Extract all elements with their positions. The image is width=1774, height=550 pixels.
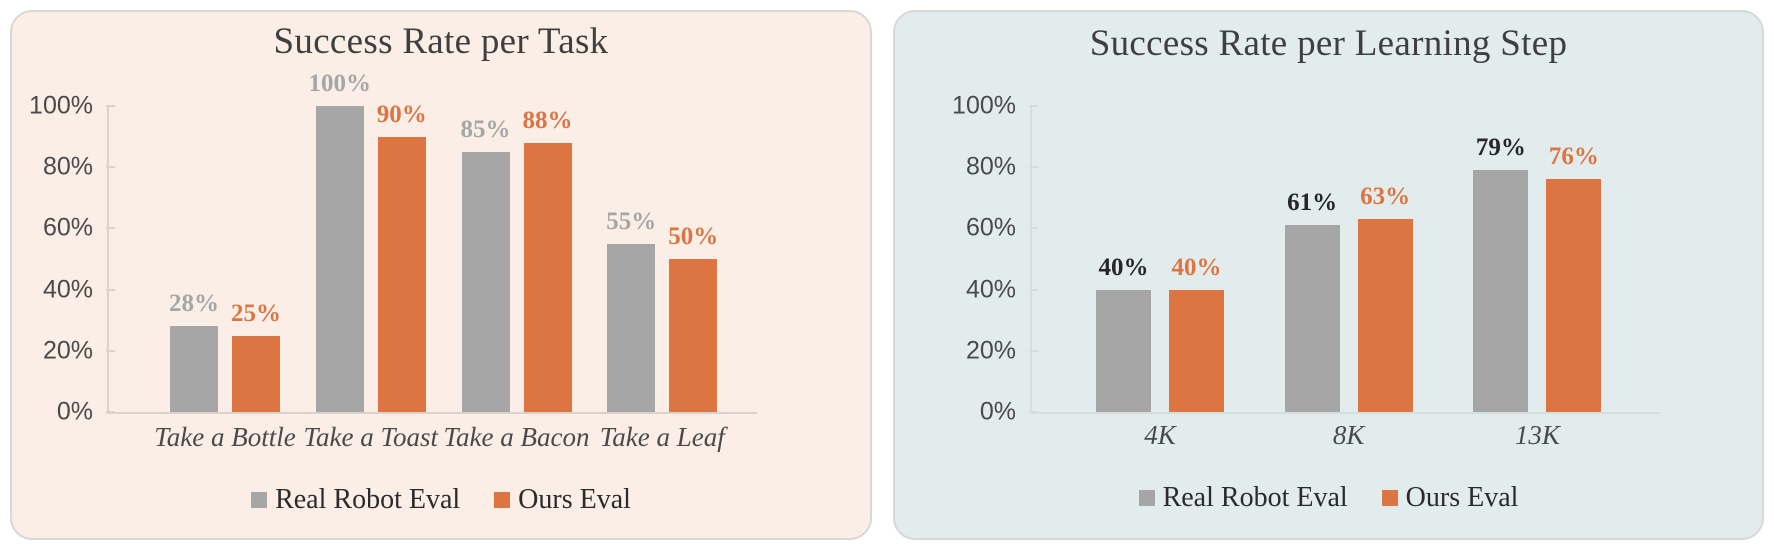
bar-value-label: 85% — [461, 116, 511, 144]
y-axis-tick — [106, 227, 115, 229]
bar-ours-eval — [1169, 290, 1224, 412]
y-axis-tick-label: 40% — [966, 275, 1016, 304]
legend-item-ours-eval[interactable]: Ours Eval — [494, 484, 631, 516]
bar-value-label: 63% — [1360, 183, 1410, 211]
bar-ours-eval — [669, 259, 717, 412]
x-axis-category-label: Take a Bacon — [444, 422, 590, 453]
chart-legend: Real Robot EvalOurs Eval — [12, 484, 870, 516]
bar-value-label: 100% — [309, 70, 372, 98]
y-axis-tick — [106, 166, 115, 168]
bar-real-robot-eval — [170, 326, 218, 412]
y-axis-tick-label: 100% — [952, 92, 1016, 121]
plot-area-left: 0%20%40%60%80%100%28%25%100%90%85%88%55%… — [107, 106, 757, 412]
y-axis-tick-label: 100% — [29, 92, 93, 121]
panel-success-rate-per-learning-step: Success Rate per Learning Step 0%20%40%6… — [893, 10, 1764, 540]
y-axis-tick-label: 80% — [43, 153, 93, 182]
x-axis-category-label: Take a Toast — [303, 422, 438, 453]
y-axis-tick-label: 0% — [57, 398, 93, 427]
legend-item-ours-eval[interactable]: Ours Eval — [1382, 482, 1519, 514]
y-axis-tick-label: 20% — [43, 336, 93, 365]
bar-ours-eval — [1358, 219, 1413, 412]
y-axis-tick-label: 80% — [966, 153, 1016, 182]
bar-real-robot-eval — [462, 152, 510, 412]
bar-value-label: 79% — [1476, 134, 1526, 162]
legend-item-real-robot-eval[interactable]: Real Robot Eval — [251, 484, 460, 516]
y-axis-tick — [1029, 350, 1038, 352]
y-axis-tick — [1029, 289, 1038, 291]
legend-swatch — [1382, 490, 1398, 506]
legend-swatch — [494, 492, 510, 508]
legend-item-real-robot-eval[interactable]: Real Robot Eval — [1139, 482, 1348, 514]
bar-value-label: 25% — [231, 300, 281, 328]
bar-real-robot-eval — [607, 244, 655, 412]
y-axis-tick-label: 40% — [43, 275, 93, 304]
y-axis-tick — [106, 411, 115, 413]
x-axis-baseline — [1030, 412, 1660, 414]
bar-ours-eval — [524, 143, 572, 412]
y-axis-tick — [1029, 227, 1038, 229]
bar-value-label: 40% — [1099, 254, 1149, 282]
y-axis-tick-label: 0% — [980, 398, 1016, 427]
bar-real-robot-eval — [1473, 170, 1528, 412]
x-axis-category-label: 8K — [1333, 420, 1365, 451]
chart-figure: Success Rate per Task 0%20%40%60%80%100%… — [0, 0, 1774, 550]
plot-area-right: 0%20%40%60%80%100%40%40%61%63%79%76% — [1030, 106, 1660, 412]
bar-real-robot-eval — [316, 106, 364, 412]
x-axis-category-label: Take a Leaf — [600, 422, 725, 453]
y-axis-tick — [1029, 166, 1038, 168]
legend-swatch — [251, 492, 267, 508]
panel-success-rate-per-task: Success Rate per Task 0%20%40%60%80%100%… — [10, 10, 872, 540]
bar-value-label: 55% — [606, 208, 656, 236]
y-axis-tick-label: 60% — [966, 214, 1016, 243]
y-axis-tick-label: 20% — [966, 336, 1016, 365]
y-axis-tick — [1029, 105, 1038, 107]
legend-label: Real Robot Eval — [1163, 482, 1348, 514]
bar-value-label: 90% — [377, 101, 427, 129]
x-axis-category-label: Take a Bottle — [154, 422, 296, 453]
bar-real-robot-eval — [1285, 225, 1340, 412]
bar-real-robot-eval — [1096, 290, 1151, 412]
bar-value-label: 88% — [523, 107, 573, 135]
x-axis-baseline — [107, 412, 757, 414]
y-axis-tick — [106, 105, 115, 107]
chart-title-left: Success Rate per Task — [12, 20, 870, 63]
bar-value-label: 76% — [1549, 143, 1599, 171]
y-axis-line — [1030, 106, 1032, 412]
bar-ours-eval — [1546, 179, 1601, 412]
x-axis-category-label: 4K — [1144, 420, 1176, 451]
y-axis-tick — [106, 289, 115, 291]
legend-label: Ours Eval — [518, 484, 631, 516]
y-axis-line — [107, 106, 109, 412]
bar-ours-eval — [232, 336, 280, 413]
bar-value-label: 28% — [169, 290, 219, 318]
x-axis-category-label: 13K — [1515, 420, 1560, 451]
bar-value-label: 50% — [668, 223, 718, 251]
y-axis-tick — [106, 350, 115, 352]
chart-title-right: Success Rate per Learning Step — [895, 22, 1762, 65]
legend-swatch — [1139, 490, 1155, 506]
y-axis-tick — [1029, 411, 1038, 413]
bar-value-label: 40% — [1172, 254, 1222, 282]
chart-legend: Real Robot EvalOurs Eval — [895, 482, 1762, 514]
bar-value-label: 61% — [1287, 189, 1337, 217]
y-axis-tick-label: 60% — [43, 214, 93, 243]
bar-ours-eval — [378, 137, 426, 412]
legend-label: Ours Eval — [1406, 482, 1519, 514]
legend-label: Real Robot Eval — [275, 484, 460, 516]
